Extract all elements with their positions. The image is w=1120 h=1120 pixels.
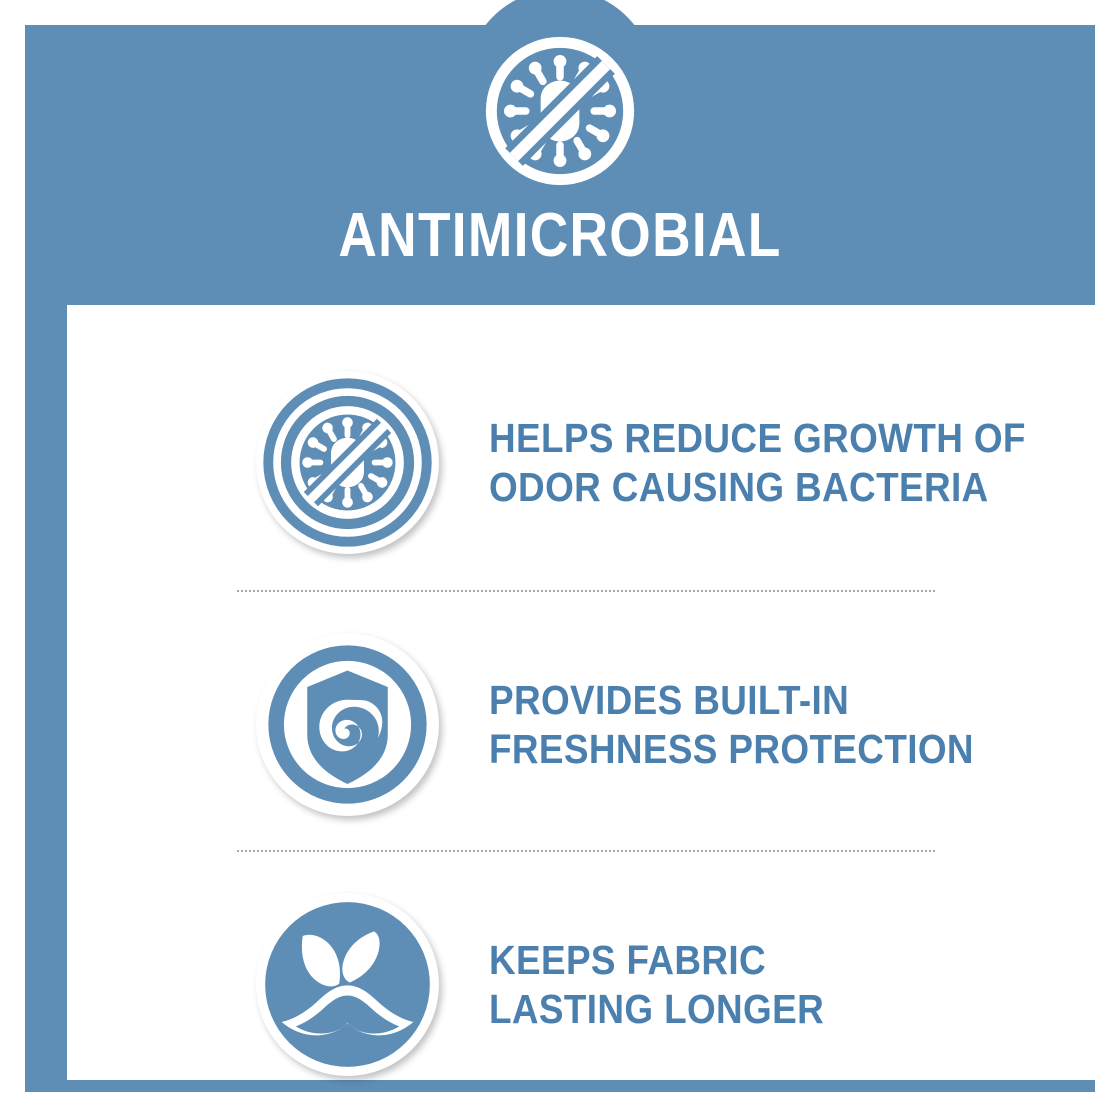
leaf-fabric-badge-icon [256, 893, 439, 1076]
shield-freshness-badge-icon [256, 633, 439, 816]
features-card: HELPS REDUCE GROWTH OF ODOR CAUSING BACT… [67, 305, 1103, 1080]
hero-header: ANTIMICROBIAL [25, 25, 1095, 305]
feature-text: PROVIDES BUILT-IN FRESHNESS PROTECTION [489, 676, 1042, 773]
badge-wrap [247, 371, 447, 554]
divider [237, 850, 935, 854]
feature-row: HELPS REDUCE GROWTH OF ODOR CAUSING BACT… [67, 355, 1103, 570]
feature-line-1: PROVIDES BUILT-IN [489, 676, 1042, 724]
feature-line-2: FRESHNESS PROTECTION [489, 725, 1042, 773]
badge-wrap [247, 893, 447, 1076]
badge-wrap [247, 633, 447, 816]
divider [237, 590, 935, 594]
germ-blocked-badge-icon [256, 371, 439, 554]
page-title: ANTIMICROBIAL [100, 205, 1020, 267]
feature-row: KEEPS FABRIC LASTING LONGER [67, 877, 1103, 1092]
germ-blocked-icon [482, 33, 638, 189]
feature-line-1: KEEPS FABRIC [489, 936, 1042, 984]
feature-line-2: ODOR CAUSING BACTERIA [489, 463, 1042, 511]
feature-text: HELPS REDUCE GROWTH OF ODOR CAUSING BACT… [489, 414, 1042, 511]
feature-line-1: HELPS REDUCE GROWTH OF [489, 414, 1042, 462]
feature-row: PROVIDES BUILT-IN FRESHNESS PROTECTION [67, 617, 1103, 832]
antimicrobial-infographic: ANTIMICROBIAL [0, 0, 1120, 1120]
feature-text: KEEPS FABRIC LASTING LONGER [489, 936, 1042, 1033]
feature-line-2: LASTING LONGER [489, 985, 1042, 1033]
blue-frame: ANTIMICROBIAL [25, 25, 1095, 1092]
